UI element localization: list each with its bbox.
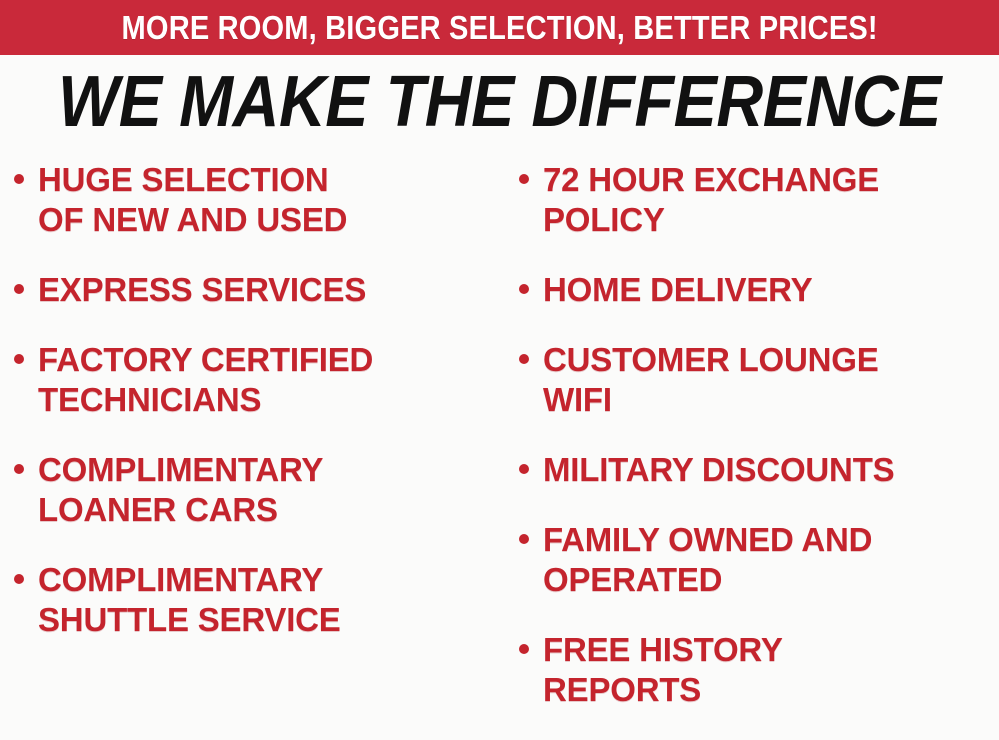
features-column-right: 72 HOUR EXCHANGE POLICY HOME DELIVERY CU… [505, 160, 999, 740]
bullet-dot-icon [14, 464, 24, 474]
bullet-dot-icon [519, 284, 529, 294]
list-item-label: FREE HISTORY REPORTS [543, 630, 783, 710]
list-item: COMPLIMENTARY LOANER CARS [14, 450, 505, 530]
list-item: FACTORY CERTIFIED TECHNICIANS [14, 340, 505, 420]
list-item-label: 72 HOUR EXCHANGE POLICY [543, 160, 879, 240]
list-item: 72 HOUR EXCHANGE POLICY [519, 160, 999, 240]
bullet-dot-icon [14, 174, 24, 184]
list-item-label: FAMILY OWNED AND OPERATED [543, 520, 872, 600]
list-item-label: MILITARY DISCOUNTS [543, 450, 894, 490]
promo-banner: MORE ROOM, BIGGER SELECTION, BETTER PRIC… [0, 0, 999, 55]
list-item-label: COMPLIMENTARY SHUTTLE SERVICE [38, 560, 341, 640]
bullet-dot-icon [14, 574, 24, 584]
list-item: HUGE SELECTION OF NEW AND USED [14, 160, 505, 240]
bullet-dot-icon [519, 534, 529, 544]
list-item-label: FACTORY CERTIFIED TECHNICIANS [38, 340, 373, 420]
list-item: FREE HISTORY REPORTS [519, 630, 999, 710]
list-item-label: CUSTOMER LOUNGE WIFI [543, 340, 879, 420]
list-item-label: HUGE SELECTION OF NEW AND USED [38, 160, 347, 240]
list-item-label: HOME DELIVERY [543, 270, 812, 310]
features-columns: HUGE SELECTION OF NEW AND USED EXPRESS S… [0, 160, 999, 692]
list-item: COMPLIMENTARY SHUTTLE SERVICE [14, 560, 505, 640]
bullet-dot-icon [519, 354, 529, 364]
list-item: CUSTOMER LOUNGE WIFI [519, 340, 999, 420]
list-item: FAMILY OWNED AND OPERATED [519, 520, 999, 600]
list-item: EXPRESS SERVICES [14, 270, 505, 310]
bullet-dot-icon [519, 174, 529, 184]
features-column-left: HUGE SELECTION OF NEW AND USED EXPRESS S… [0, 160, 505, 670]
advertisement-banner: MORE ROOM, BIGGER SELECTION, BETTER PRIC… [0, 0, 999, 692]
promo-banner-text: MORE ROOM, BIGGER SELECTION, BETTER PRIC… [121, 11, 877, 44]
list-item: HOME DELIVERY [519, 270, 999, 310]
bullet-dot-icon [519, 644, 529, 654]
bullet-dot-icon [14, 354, 24, 364]
list-item-label: EXPRESS SERVICES [38, 270, 366, 310]
bullet-dot-icon [14, 284, 24, 294]
bullet-dot-icon [519, 464, 529, 474]
list-item-label: COMPLIMENTARY LOANER CARS [38, 450, 323, 530]
list-item: MILITARY DISCOUNTS [519, 450, 999, 490]
page-title: WE MAKE THE DIFFERENCE [50, 66, 949, 138]
